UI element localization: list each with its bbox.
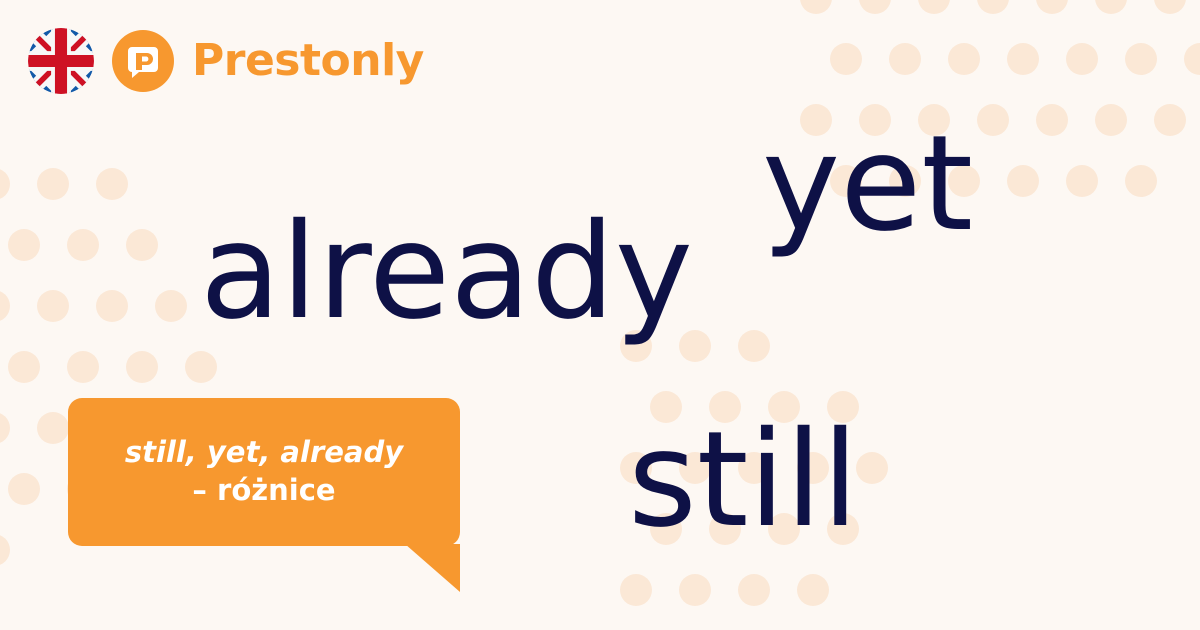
decorative-dot — [1095, 104, 1127, 136]
decorative-dot — [96, 168, 128, 200]
decorative-dot — [856, 452, 888, 484]
callout-title-line-2: – różnice — [192, 472, 335, 510]
decorative-dot — [1036, 0, 1068, 14]
keyword-still: still — [628, 414, 859, 546]
decorative-dot — [1125, 165, 1157, 197]
decorative-dot — [1036, 104, 1068, 136]
decorative-dot — [830, 43, 862, 75]
decorative-dot — [0, 168, 10, 200]
decorative-dot — [67, 351, 99, 383]
decorative-dot — [1066, 43, 1098, 75]
decorative-dot — [0, 412, 10, 444]
title-callout-bubble: still, yet, already – różnice — [68, 398, 460, 546]
decorative-dot — [679, 574, 711, 606]
decorative-dot — [1125, 43, 1157, 75]
keyword-already: already — [200, 206, 693, 338]
decorative-dot — [0, 534, 10, 566]
decorative-dot — [797, 574, 829, 606]
decorative-dot — [8, 473, 40, 505]
decorative-dot — [620, 574, 652, 606]
decorative-dot — [1007, 165, 1039, 197]
callout-body: still, yet, already – różnice — [68, 398, 460, 546]
brand-header: Prestonly — [28, 28, 424, 94]
keyword-yet: yet — [762, 118, 973, 250]
decorative-dot — [948, 43, 980, 75]
callout-tail — [405, 544, 460, 592]
decorative-dot — [977, 104, 1009, 136]
decorative-dot — [1154, 0, 1186, 14]
decorative-dot — [0, 290, 10, 322]
decorative-dot — [37, 412, 69, 444]
callout-title-line-1: still, yet, already — [125, 434, 403, 472]
decorative-dot — [96, 290, 128, 322]
social-card-canvas: Prestonly yet already still still, yet, … — [0, 0, 1200, 630]
decorative-dot — [1007, 43, 1039, 75]
decorative-dot — [155, 290, 187, 322]
decorative-dot — [859, 0, 891, 14]
decorative-dot — [918, 0, 950, 14]
brand-name: Prestonly — [192, 39, 424, 83]
uk-flag-icon — [28, 28, 94, 94]
decorative-dot — [126, 351, 158, 383]
decorative-dot — [37, 168, 69, 200]
decorative-dot — [8, 351, 40, 383]
decorative-dot — [37, 290, 69, 322]
decorative-dot — [977, 0, 1009, 14]
decorative-dot — [1184, 43, 1200, 75]
decorative-dot — [738, 330, 770, 362]
decorative-dot — [126, 229, 158, 261]
decorative-dot — [1154, 104, 1186, 136]
decorative-dot — [1095, 0, 1127, 14]
decorative-dot — [67, 229, 99, 261]
prestonly-speech-bubble-icon — [112, 30, 174, 92]
decorative-dot — [1066, 165, 1098, 197]
decorative-dot — [8, 229, 40, 261]
decorative-dot — [800, 0, 832, 14]
decorative-dot — [889, 43, 921, 75]
decorative-dot — [185, 351, 217, 383]
decorative-dot — [738, 574, 770, 606]
